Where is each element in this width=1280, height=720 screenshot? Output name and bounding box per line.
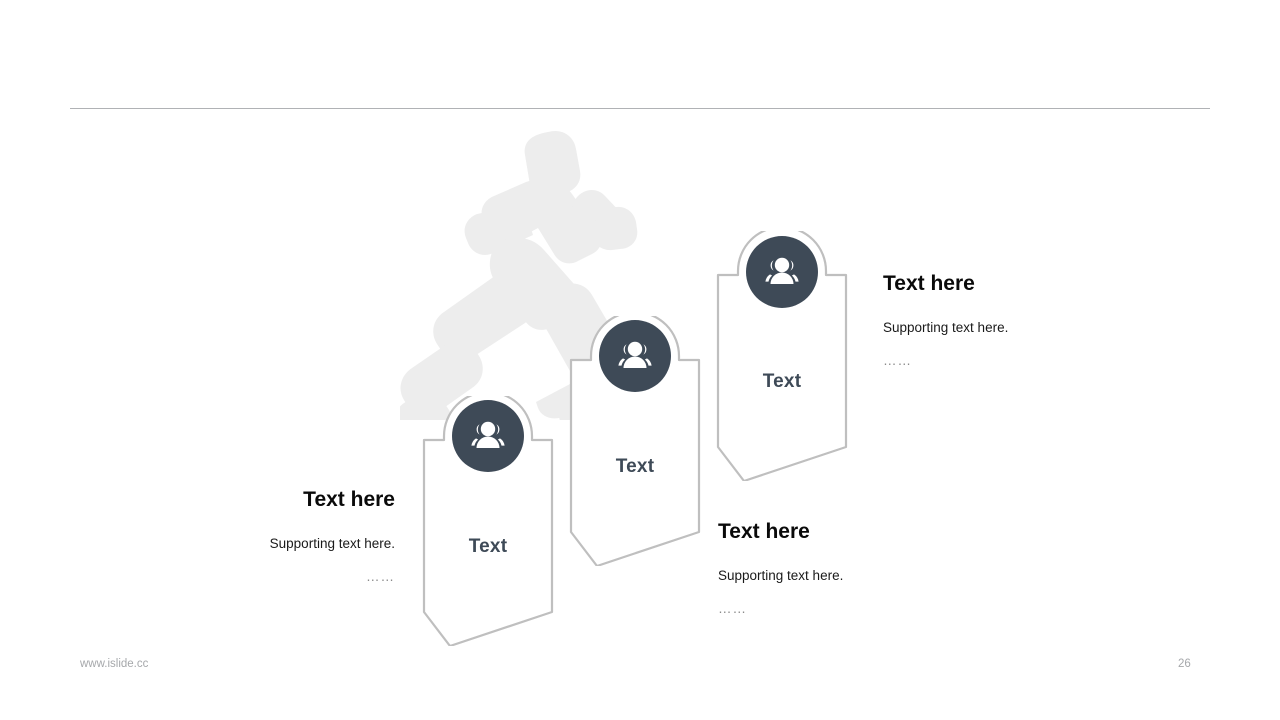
page-number: 26 bbox=[1178, 658, 1191, 670]
banner-1-badge[interactable] bbox=[452, 400, 524, 472]
footer-url[interactable]: www.islide.cc bbox=[80, 658, 148, 670]
slide-canvas: Text Text bbox=[0, 0, 1280, 720]
banner-1-label: Text bbox=[422, 536, 554, 558]
callout-1-title: Text here bbox=[165, 488, 395, 512]
header-divider bbox=[70, 108, 1210, 109]
callout-1-dots: …… bbox=[165, 569, 395, 584]
callout-2-dots: …… bbox=[718, 601, 978, 616]
callout-3-title: Text here bbox=[883, 272, 1143, 296]
banner-2-badge[interactable] bbox=[599, 320, 671, 392]
callout-1-subtitle: Supporting text here. bbox=[165, 536, 395, 551]
people-group-icon bbox=[468, 416, 508, 456]
callout-3-subtitle: Supporting text here. bbox=[883, 320, 1143, 335]
callout-3: Text here Supporting text here. …… bbox=[883, 272, 1143, 368]
callout-1: Text here Supporting text here. …… bbox=[165, 488, 395, 584]
banner-3-label: Text bbox=[716, 371, 848, 393]
people-group-icon bbox=[762, 252, 802, 292]
callout-2-title: Text here bbox=[718, 520, 978, 544]
banner-2-label: Text bbox=[569, 456, 701, 478]
callout-3-dots: …… bbox=[883, 353, 1143, 368]
banner-3-badge[interactable] bbox=[746, 236, 818, 308]
callout-2-subtitle: Supporting text here. bbox=[718, 568, 978, 583]
people-group-icon bbox=[615, 336, 655, 376]
callout-2: Text here Supporting text here. …… bbox=[718, 520, 978, 616]
